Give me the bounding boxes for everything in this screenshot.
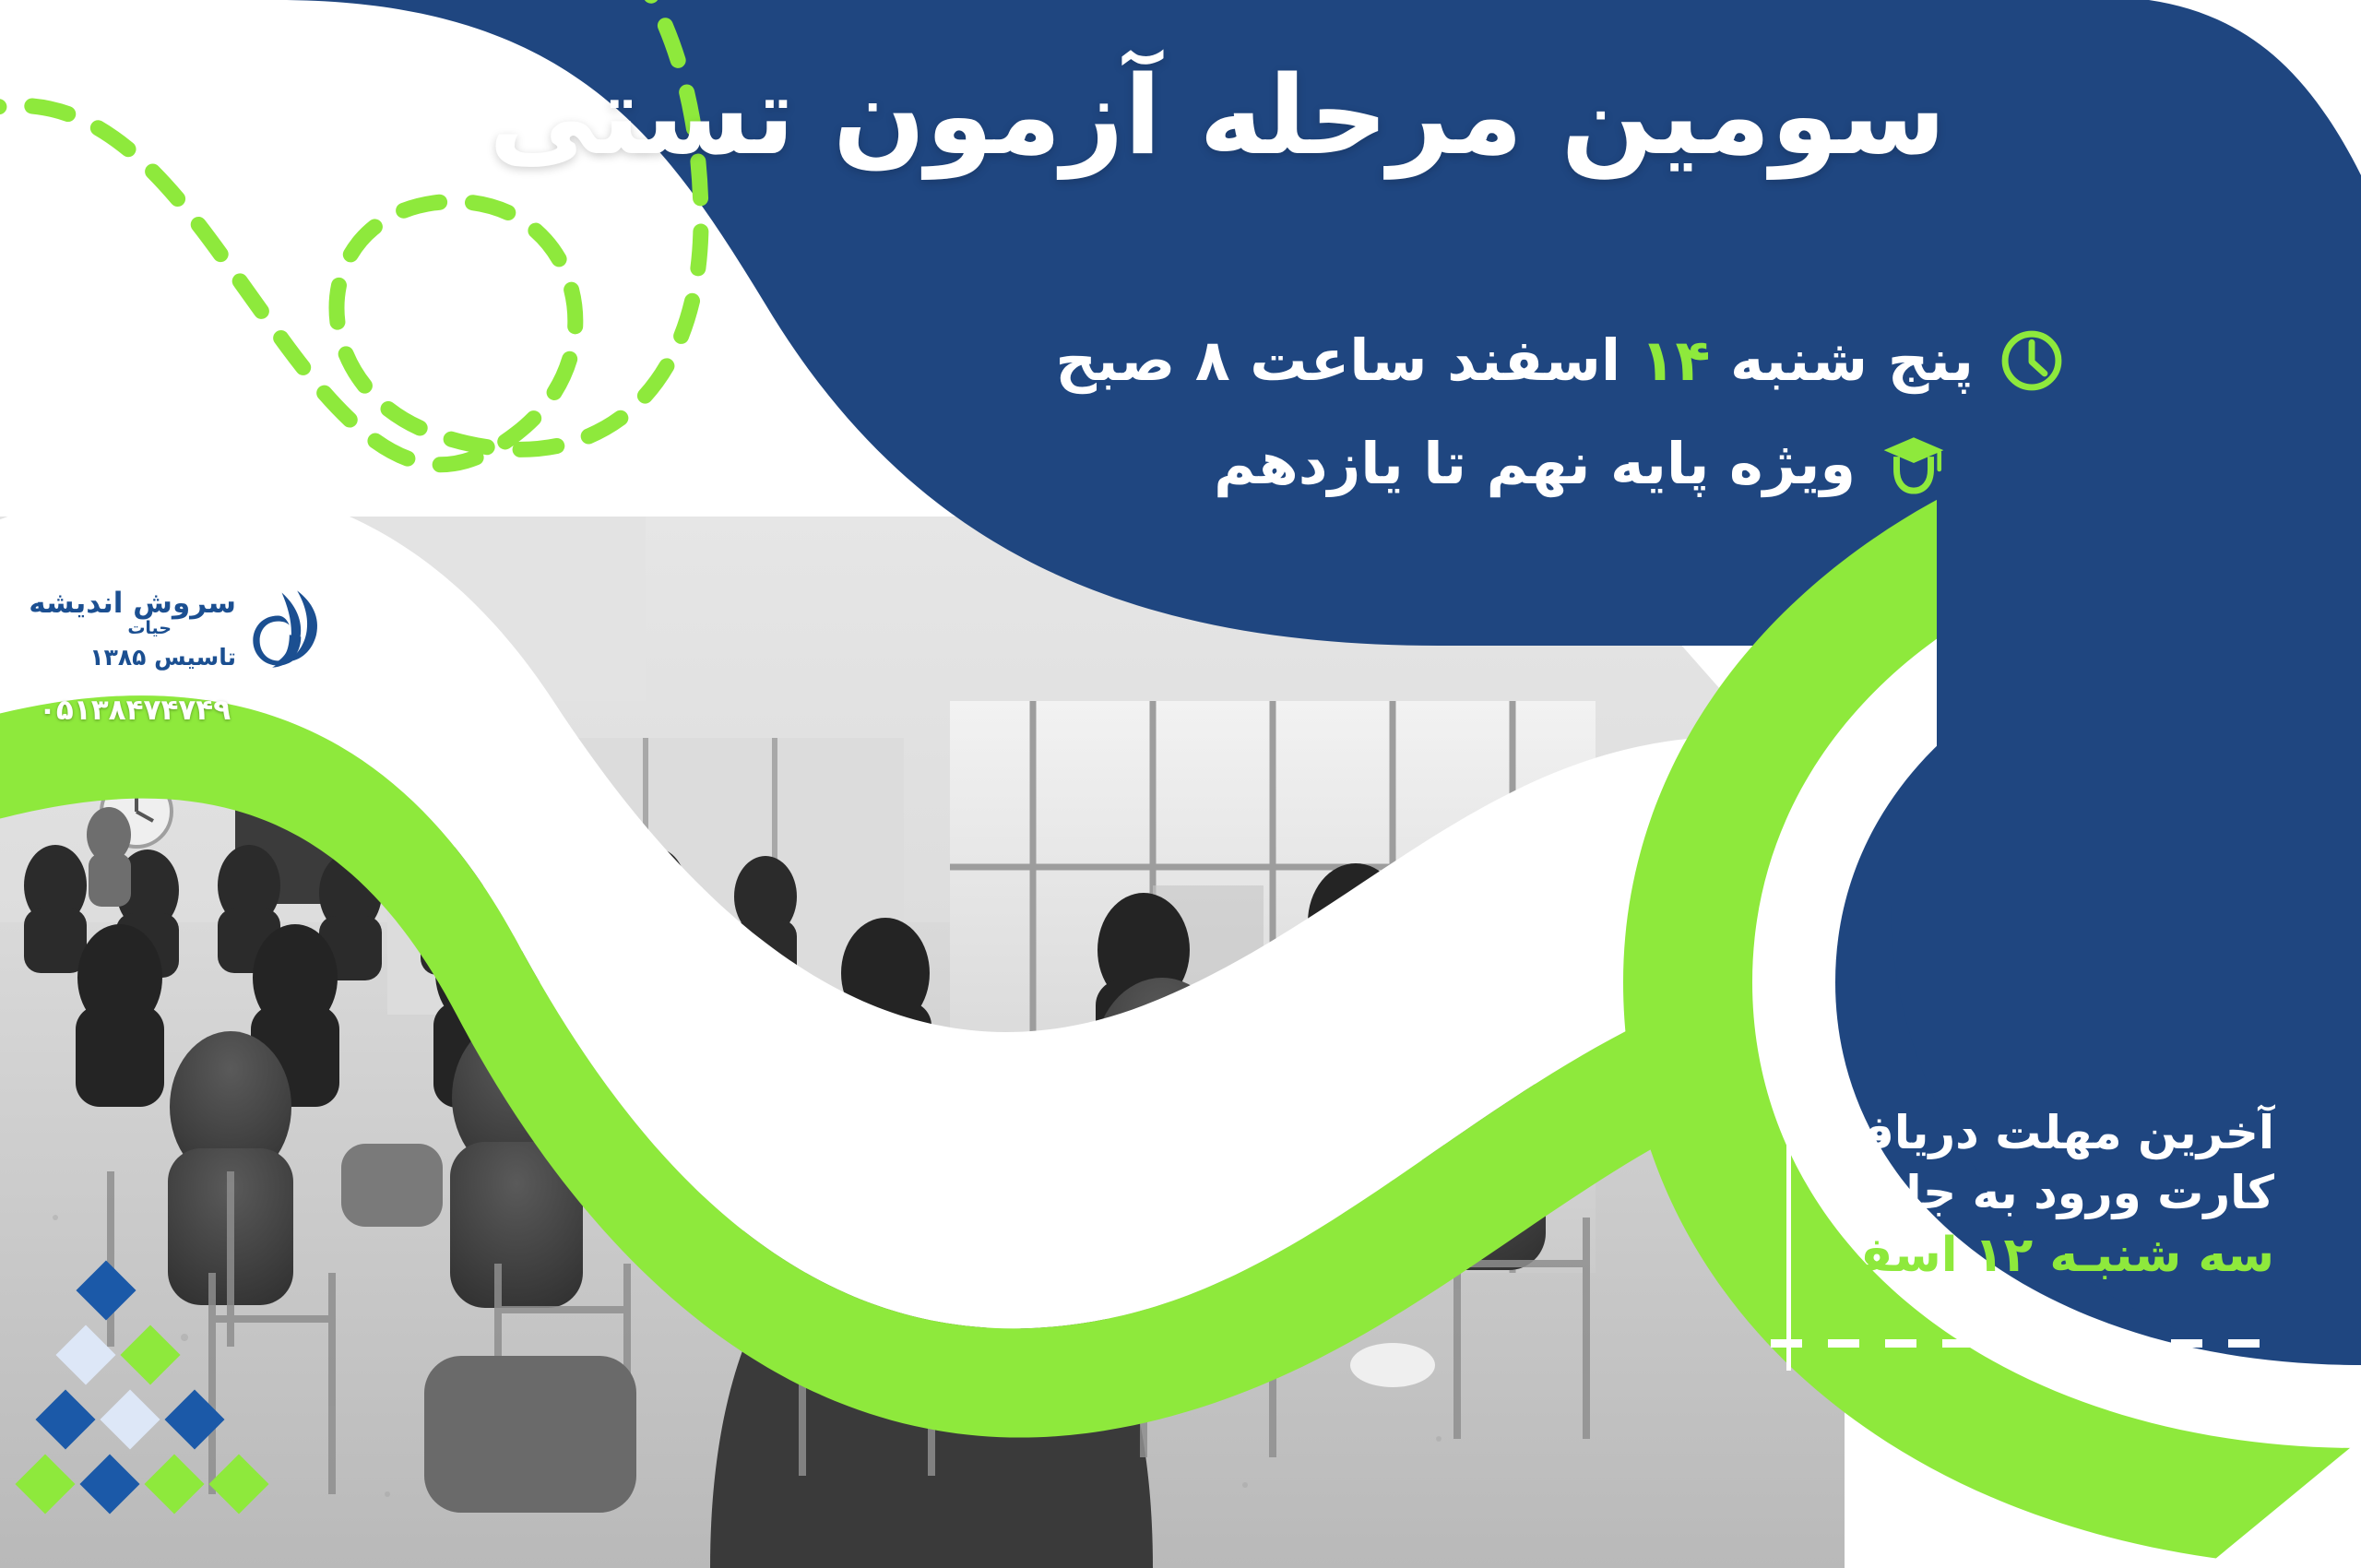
brand-founded: تاسیس ۱۳۸۵ bbox=[89, 646, 236, 669]
graduation-cap-icon bbox=[1880, 429, 1948, 497]
brand-logo-top: سروش اندیشه حیات تاسیس ۱۳۸۵ bbox=[28, 581, 341, 677]
poster-canvas: سومین مرحله آزمون تستی پنج شنبه ۱۴ اسفند… bbox=[0, 0, 2361, 1568]
soroush-bird-mark-icon bbox=[245, 581, 341, 677]
deadline-dashed-rule bbox=[1771, 1339, 2260, 1348]
deadline-date: سه شنبـه ۱۲ اسفنـد bbox=[1784, 1223, 2274, 1288]
brand-name-sub: حیات bbox=[127, 620, 236, 637]
info-datetime-suffix: اسفند ساعت ۸ صبح bbox=[1055, 327, 1640, 394]
info-datetime-prefix: پنج شنبه bbox=[1710, 327, 1974, 394]
deadline-line-2: کارت ورود به جلسه bbox=[1784, 1163, 2274, 1223]
info-row-grades-label: ویژه پایه نهم تا یازدهم bbox=[1214, 428, 1856, 500]
deadline-block: آخرین مهلت دریافت کارت ورود به جلسه سه ش… bbox=[1784, 1103, 2282, 1288]
deadline-line-1: آخرین مهلت دریافت bbox=[1784, 1103, 2274, 1163]
clock-icon bbox=[1998, 327, 2066, 395]
info-datetime-highlight: ۱۴ bbox=[1641, 327, 1711, 394]
info-row-grades: ویژه پایه نهم تا یازدهم bbox=[157, 428, 2204, 500]
poster-artwork bbox=[0, 0, 2361, 1568]
brand-name: سروش اندیشه bbox=[29, 589, 236, 618]
brand-logo-words: سروش اندیشه حیات تاسیس ۱۳۸۵ bbox=[29, 589, 236, 669]
brand-logo: سروش اندیشه حیات تاسیس ۱۳۸۵ ۰۵۱۳۸۴۷۴۷۴۹ bbox=[28, 581, 341, 727]
info-row-datetime-label: پنج شنبه ۱۴ اسفند ساعت ۸ صبح bbox=[1055, 325, 1974, 397]
page-title: سومین مرحله آزمون تستی bbox=[406, 42, 2029, 189]
info-list: پنج شنبه ۱۴ اسفند ساعت ۸ صبح ویژه پایه ن… bbox=[157, 325, 2204, 530]
brand-phone: ۰۵۱۳۸۴۷۴۷۴۹ bbox=[28, 694, 341, 727]
info-row-datetime: پنج شنبه ۱۴ اسفند ساعت ۸ صبح bbox=[157, 325, 2204, 397]
